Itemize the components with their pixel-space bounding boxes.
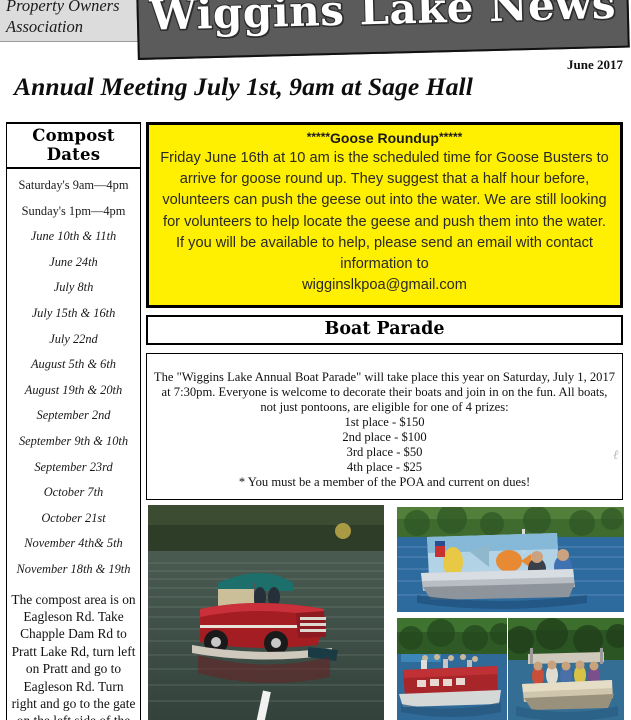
boat-parade-prize: 4th place - $25 <box>153 460 616 475</box>
main-content-column: *****Goose Roundup***** Friday June 16th… <box>146 122 623 500</box>
boat-parade-header: Boat Parade <box>146 315 623 345</box>
compost-date-item: August 5th & 6th <box>7 352 140 378</box>
photo-red-banner-pontoon <box>397 618 507 720</box>
organization-line-2: Association <box>6 16 139 37</box>
compost-date-item: July 22nd <box>7 327 140 353</box>
photo-ocean-theme-pontoon-graphic <box>397 507 624 612</box>
compost-hours-line: Sunday's 1pm—4pm <box>7 199 140 225</box>
goose-title-stars-right: ***** <box>439 130 462 144</box>
compost-dates-list: Saturday's 9am—4pmSunday's 1pm—4pmJune 1… <box>7 169 140 583</box>
photo-red-car-pontoon-graphic <box>148 505 384 720</box>
boat-parade-prize: 2nd place - $100 <box>153 430 616 445</box>
organization-name-box: Wiggins Lake Property Owners Association <box>0 0 146 42</box>
boat-parade-membership-note: * You must be a member of the POA and cu… <box>153 475 616 491</box>
compost-date-item: September 23rd <box>7 455 140 481</box>
compost-date-item: September 2nd <box>7 403 140 429</box>
goose-roundup-email: wigginslkpoa@gmail.com <box>157 275 612 296</box>
page-edge-artifact: ℓ <box>610 446 631 471</box>
goose-title-stars-left: ***** <box>307 130 330 144</box>
compost-directions-text: The compost area is on Eagleson Rd. Take… <box>7 591 140 720</box>
boat-parade-prize: 1st place - $150 <box>153 415 616 430</box>
issue-date: June 2017 <box>567 57 623 73</box>
compost-date-item: July 15th & 16th <box>7 301 140 327</box>
goose-roundup-title: *****Goose Roundup***** <box>157 129 612 146</box>
boat-parade-box: The "Wiggins Lake Annual Boat Parade" wi… <box>146 353 623 500</box>
photo-red-banner-pontoon-graphic <box>397 618 507 720</box>
newsletter-title-banner: Wiggins Lake News <box>136 0 630 60</box>
photo-red-car-pontoon <box>148 505 384 720</box>
annual-meeting-headline: Annual Meeting July 1st, 9am at Sage Hal… <box>14 72 473 102</box>
goose-roundup-box: *****Goose Roundup***** Friday June 16th… <box>146 122 623 308</box>
boat-parade-prize: 3rd place - $50 <box>153 445 616 460</box>
compost-hours-line: Saturday's 9am—4pm <box>7 173 140 199</box>
newsletter-title: Wiggins Lake News <box>138 0 627 40</box>
goose-title-text: Goose Roundup <box>330 130 439 146</box>
organization-line-1: Property Owners <box>6 0 139 16</box>
compost-date-item: November 4th& 5th <box>7 531 140 557</box>
photo-crowded-pontoon-graphic <box>508 618 624 720</box>
compost-date-item: June 24th <box>7 250 140 276</box>
compost-date-item: July 8th <box>7 275 140 301</box>
compost-date-item: October 21st <box>7 506 140 532</box>
compost-dates-sidebar: Compost Dates Saturday's 9am—4pmSunday's… <box>6 122 141 720</box>
compost-date-item: August 19th & 20th <box>7 378 140 404</box>
compost-dates-header: Compost Dates <box>7 122 140 169</box>
compost-date-item: September 9th & 10th <box>7 429 140 455</box>
photo-ocean-theme-pontoon <box>397 507 624 612</box>
boat-parade-intro: The "Wiggins Lake Annual Boat Parade" wi… <box>153 370 616 415</box>
boat-parade-prize-list: 1st place - $1502nd place - $1003rd plac… <box>153 415 616 475</box>
goose-roundup-paragraph: Friday June 16th at 10 am is the schedul… <box>160 150 609 272</box>
compost-date-item: October 7th <box>7 480 140 506</box>
masthead: Wiggins Lake Property Owners Association… <box>0 0 631 112</box>
goose-roundup-body: Friday June 16th at 10 am is the schedul… <box>157 148 612 296</box>
compost-date-item: June 10th & 11th <box>7 224 140 250</box>
compost-date-item: November 18th & 19th <box>7 557 140 583</box>
photo-crowded-pontoon <box>508 618 624 720</box>
